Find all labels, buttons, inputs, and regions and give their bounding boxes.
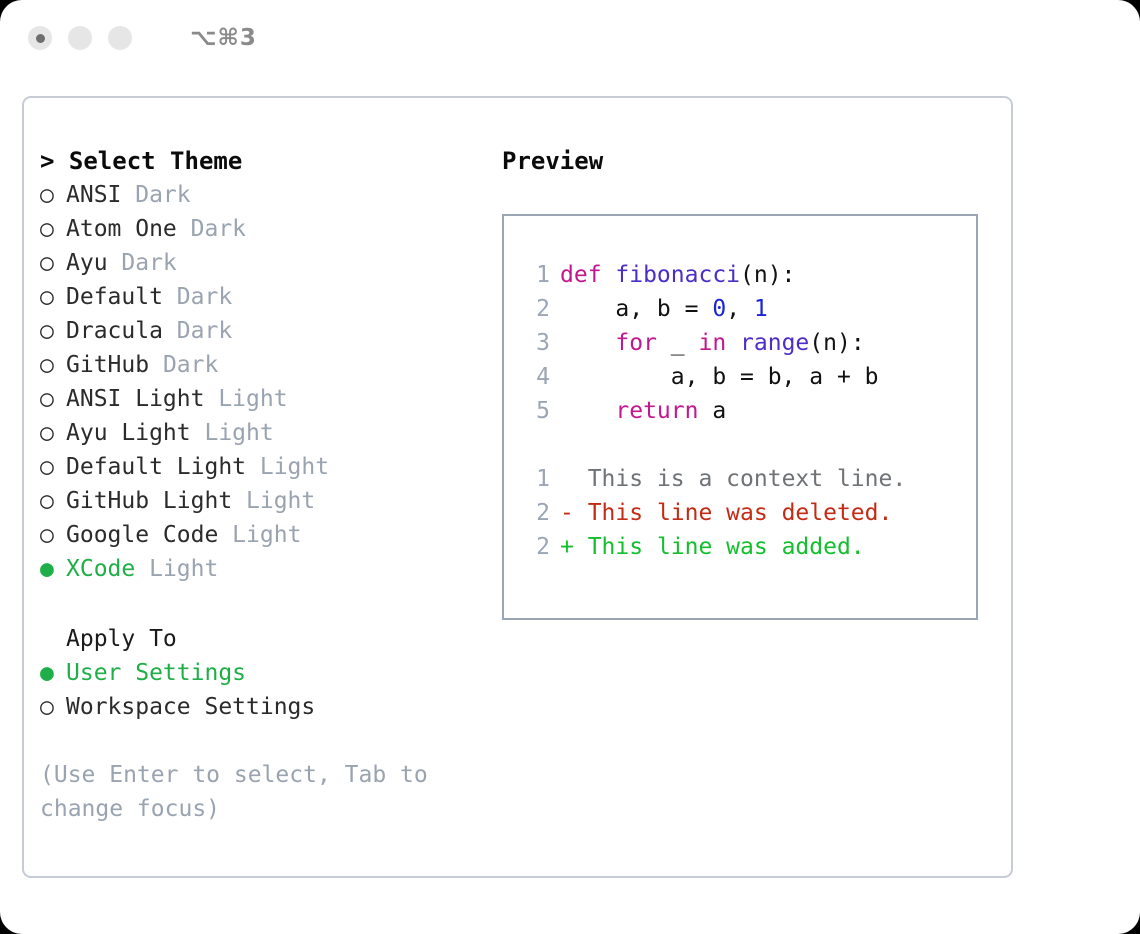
- theme-kind-label: Dark: [163, 318, 232, 344]
- apply-to-name: User Settings: [66, 660, 246, 686]
- code-token-plain: (n):: [809, 330, 864, 356]
- code-token-plain: ,: [726, 296, 754, 322]
- code-token-plain: a, b = b, a + b: [560, 364, 879, 390]
- theme-name: GitHub: [66, 352, 149, 378]
- code-token-kw: return: [615, 398, 698, 424]
- diff-sign: -: [560, 500, 574, 526]
- radio-selected-icon: ●: [40, 656, 66, 690]
- radio-unselected-icon: ○: [40, 382, 66, 416]
- preview-box: 1def fibonacci(n):2 a, b = 0, 13 for _ i…: [502, 214, 978, 620]
- radio-unselected-icon: ○: [40, 348, 66, 382]
- spacer: [40, 586, 490, 622]
- theme-kind-label: Dark: [149, 352, 218, 378]
- spacer: [522, 428, 976, 462]
- diff-line-text: + This line was added.: [560, 534, 865, 560]
- theme-option-ayu-light[interactable]: ○Ayu Light Light: [40, 416, 490, 450]
- code-token-fn: fibonacci: [615, 262, 740, 288]
- code-line: 4 a, b = b, a + b: [522, 360, 976, 394]
- radio-unselected-icon: ○: [40, 416, 66, 450]
- radio-unselected-icon: ○: [40, 212, 66, 246]
- theme-option-default[interactable]: ○Default Dark: [40, 280, 490, 314]
- theme-name: Ayu Light: [66, 420, 191, 446]
- theme-option-dracula[interactable]: ○Dracula Dark: [40, 314, 490, 348]
- select-theme-heading: > Select Theme: [40, 144, 490, 178]
- radio-unselected-icon: ○: [40, 518, 66, 552]
- radio-selected-icon: ●: [40, 552, 66, 586]
- title-bar: ⌥⌘3: [0, 0, 1140, 76]
- code-sample: 1def fibonacci(n):2 a, b = 0, 13 for _ i…: [522, 258, 976, 428]
- diff-line-number: 1: [522, 462, 550, 496]
- code-line-number: 4: [522, 360, 550, 394]
- theme-kind-label: Dark: [121, 182, 190, 208]
- spacer: [40, 724, 490, 758]
- apply-to-option-user-settings[interactable]: ●User Settings: [40, 656, 490, 690]
- keyboard-hint-text: (Use Enter to select, Tab to change focu…: [40, 758, 452, 826]
- diff-text: This line was added.: [574, 534, 865, 560]
- theme-option-ansi-light[interactable]: ○ANSI Light Light: [40, 382, 490, 416]
- code-token-num: 0: [712, 296, 726, 322]
- code-token-plain: [726, 330, 740, 356]
- theme-kind-label: Dark: [163, 284, 232, 310]
- theme-name: Atom One: [66, 216, 177, 242]
- theme-name: Dracula: [66, 318, 163, 344]
- preview-heading: Preview: [502, 144, 997, 178]
- theme-name: Default Light: [66, 454, 246, 480]
- apply-to-name: Workspace Settings: [66, 694, 315, 720]
- radio-unselected-icon: ○: [40, 484, 66, 518]
- theme-name: Google Code: [66, 522, 218, 548]
- code-line: 1def fibonacci(n):: [522, 258, 976, 292]
- code-token-num: 1: [754, 296, 768, 322]
- preview-column: Preview 1def fibonacci(n):2 a, b = 0, 13…: [502, 144, 997, 620]
- theme-option-xcode[interactable]: ●XCode Light: [40, 552, 490, 586]
- diff-line-text: This is a context line.: [560, 466, 906, 492]
- theme-option-atom-one[interactable]: ○Atom One Dark: [40, 212, 490, 246]
- diff-line-number: 2: [522, 530, 550, 564]
- diff-sample: 1 This is a context line.2- This line wa…: [522, 462, 976, 564]
- theme-name: ANSI: [66, 182, 121, 208]
- theme-name: XCode: [66, 556, 135, 582]
- keyboard-shortcut-label: ⌥⌘3: [190, 25, 257, 51]
- apply-to-option-workspace-settings[interactable]: ○Workspace Settings: [40, 690, 490, 724]
- theme-option-google-code[interactable]: ○Google Code Light: [40, 518, 490, 552]
- theme-option-github[interactable]: ○GitHub Dark: [40, 348, 490, 382]
- diff-sign: +: [560, 534, 574, 560]
- theme-option-ayu[interactable]: ○Ayu Dark: [40, 246, 490, 280]
- code-token-plain: a: [698, 398, 726, 424]
- diff-text: This line was deleted.: [574, 500, 893, 526]
- diff-sign: [560, 466, 574, 492]
- code-token-fn: range: [740, 330, 809, 356]
- traffic-light-dot-3-icon[interactable]: [108, 26, 132, 50]
- code-token-plain: (n):: [740, 262, 795, 288]
- code-token-plain: _: [657, 330, 699, 356]
- theme-name: ANSI Light: [66, 386, 204, 412]
- code-token-plain: [560, 398, 615, 424]
- apply-to-heading: Apply To: [40, 622, 490, 656]
- code-token-kw: for: [615, 330, 657, 356]
- code-line: 5 return a: [522, 394, 976, 428]
- code-line: 2 a, b = 0, 1: [522, 292, 976, 326]
- code-token-kw: in: [698, 330, 726, 356]
- theme-option-default-light[interactable]: ○Default Light Light: [40, 450, 490, 484]
- theme-kind-label: Light: [246, 454, 329, 480]
- theme-kind-label: Light: [218, 522, 301, 548]
- theme-list: ○ANSI Dark○Atom One Dark○Ayu Dark○Defaul…: [40, 178, 490, 586]
- theme-kind-label: Dark: [108, 250, 177, 276]
- radio-unselected-icon: ○: [40, 280, 66, 314]
- theme-option-ansi[interactable]: ○ANSI Dark: [40, 178, 490, 212]
- traffic-light-dot-1-icon[interactable]: [28, 26, 52, 50]
- radio-unselected-icon: ○: [40, 450, 66, 484]
- code-line-number: 5: [522, 394, 550, 428]
- traffic-light-dot-2-icon[interactable]: [68, 26, 92, 50]
- theme-kind-label: Dark: [177, 216, 246, 242]
- code-line: 3 for _ in range(n):: [522, 326, 976, 360]
- radio-unselected-icon: ○: [40, 178, 66, 212]
- radio-unselected-icon: ○: [40, 314, 66, 348]
- theme-kind-label: Light: [135, 556, 218, 582]
- theme-kind-label: Light: [204, 386, 287, 412]
- theme-name: Default: [66, 284, 163, 310]
- diff-line-text: - This line was deleted.: [560, 500, 892, 526]
- theme-option-github-light[interactable]: ○GitHub Light Light: [40, 484, 490, 518]
- app-window: ⌥⌘3 > Select Theme ○ANSI Dark○Atom One D…: [0, 0, 1140, 934]
- theme-kind-label: Light: [232, 488, 315, 514]
- diff-line-add: 2+ This line was added.: [522, 530, 976, 564]
- theme-list-column: > Select Theme ○ANSI Dark○Atom One Dark○…: [40, 144, 490, 826]
- diff-line-ctx: 1 This is a context line.: [522, 462, 976, 496]
- radio-unselected-icon: ○: [40, 246, 66, 280]
- code-token-plain: a, b =: [560, 296, 712, 322]
- radio-unselected-icon: ○: [40, 690, 66, 724]
- theme-name: Ayu: [66, 250, 108, 276]
- code-line-number: 2: [522, 292, 550, 326]
- theme-name: GitHub Light: [66, 488, 232, 514]
- code-token-kw: def: [560, 262, 615, 288]
- apply-to-list: ●User Settings○Workspace Settings: [40, 656, 490, 724]
- code-line-number: 1: [522, 258, 550, 292]
- panel-columns: > Select Theme ○ANSI Dark○Atom One Dark○…: [24, 98, 1011, 876]
- diff-line-number: 2: [522, 496, 550, 530]
- theme-picker-panel: > Select Theme ○ANSI Dark○Atom One Dark○…: [22, 96, 1013, 878]
- theme-kind-label: Light: [191, 420, 274, 446]
- code-line-number: 3: [522, 326, 550, 360]
- diff-line-del: 2- This line was deleted.: [522, 496, 976, 530]
- diff-text: This is a context line.: [574, 466, 906, 492]
- code-token-plain: [560, 330, 615, 356]
